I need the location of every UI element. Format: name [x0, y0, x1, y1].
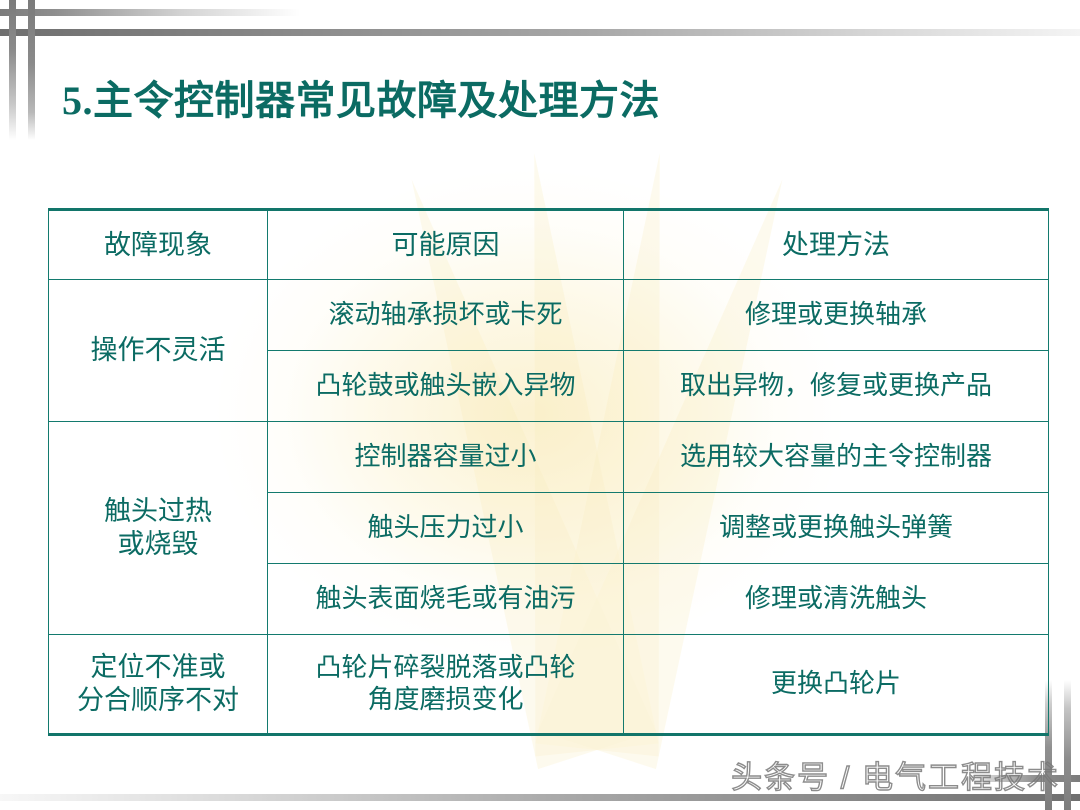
cause-line-1: 凸轮片碎裂脱落或凸轮	[272, 652, 619, 684]
watermark-text: 头条号 / 电气工程技术	[731, 752, 1060, 797]
symptom-line-2: 分合顺序不对	[53, 684, 263, 717]
symptom-line-1: 触头过热	[53, 495, 263, 528]
deco-horizontal-bar-upper	[0, 9, 300, 16]
remedy-cell: 取出异物，修复或更换产品	[624, 351, 1049, 422]
column-header-symptom: 故障现象	[49, 210, 268, 280]
fault-table: 故障现象 可能原因 处理方法 操作不灵活 滚动轴承损坏或卡死 修理或更换轴承 凸…	[48, 208, 1049, 736]
slide-title: 5.主令控制器常见故障及处理方法	[62, 80, 660, 122]
deco-br-horizontal-bar-lower	[0, 794, 1080, 801]
remedy-cell: 修理或清洗触头	[624, 564, 1049, 635]
deco-horizontal-bar-lower	[0, 29, 1080, 36]
cause-line-2: 角度磨损变化	[272, 684, 619, 716]
symptom-line-1: 定位不准或	[53, 651, 263, 684]
remedy-cell: 修理或更换轴承	[624, 280, 1049, 351]
deco-br-vertical-bar-right	[1064, 680, 1071, 810]
table-row: 定位不准或 分合顺序不对 凸轮片碎裂脱落或凸轮 角度磨损变化 更换凸轮片	[49, 635, 1049, 735]
symptom-line-2: 或烧毁	[53, 528, 263, 561]
slide-canvas: 5.主令控制器常见故障及处理方法 故障现象 可能原因 处理方法 操作不灵活 滚动…	[0, 0, 1080, 810]
deco-vertical-bar-left	[9, 0, 16, 140]
cause-cell: 触头压力过小	[268, 493, 624, 564]
symptom-cell-position-inaccurate: 定位不准或 分合顺序不对	[49, 635, 268, 735]
cause-cell: 凸轮片碎裂脱落或凸轮 角度磨损变化	[268, 635, 624, 735]
table-header-row: 故障现象 可能原因 处理方法	[49, 210, 1049, 280]
column-header-remedy: 处理方法	[624, 210, 1049, 280]
deco-br-horizontal-bar-upper	[968, 775, 1080, 782]
symptom-cell-contact-overheat: 触头过热 或烧毁	[49, 422, 268, 635]
cause-cell: 触头表面烧毛或有油污	[268, 564, 624, 635]
remedy-cell: 选用较大容量的主令控制器	[624, 422, 1049, 493]
symptom-cell-operation-stiff: 操作不灵活	[49, 280, 268, 422]
cause-cell: 控制器容量过小	[268, 422, 624, 493]
table-row: 操作不灵活 滚动轴承损坏或卡死 修理或更换轴承	[49, 280, 1049, 351]
fault-table-container: 故障现象 可能原因 处理方法 操作不灵活 滚动轴承损坏或卡死 修理或更换轴承 凸…	[48, 208, 1048, 736]
cause-cell: 凸轮鼓或触头嵌入异物	[268, 351, 624, 422]
remedy-cell: 更换凸轮片	[624, 635, 1049, 735]
cause-cell: 滚动轴承损坏或卡死	[268, 280, 624, 351]
column-header-cause: 可能原因	[268, 210, 624, 280]
remedy-cell: 调整或更换触头弹簧	[624, 493, 1049, 564]
table-row: 触头过热 或烧毁 控制器容量过小 选用较大容量的主令控制器	[49, 422, 1049, 493]
deco-vertical-bar-right	[28, 0, 35, 140]
